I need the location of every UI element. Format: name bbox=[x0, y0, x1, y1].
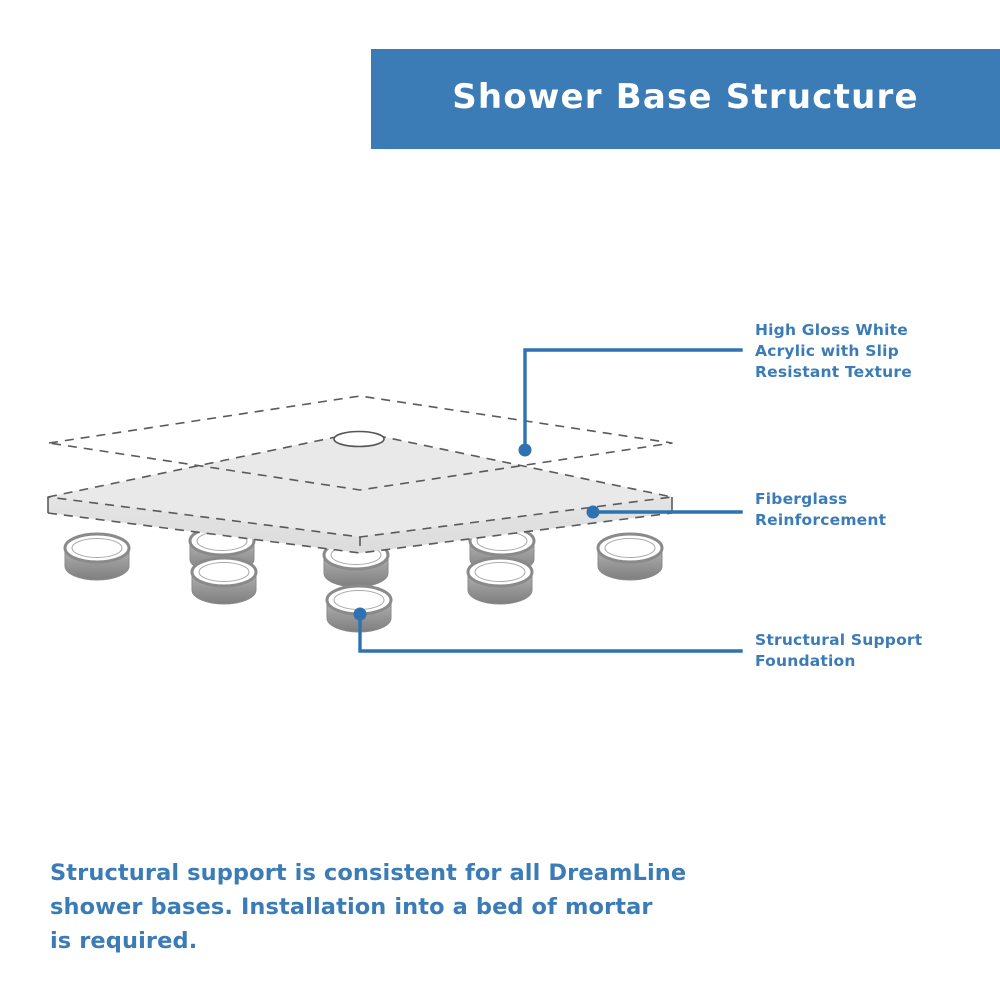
fiberglass-slab bbox=[48, 432, 672, 553]
callout-leader-support bbox=[354, 608, 742, 652]
support-ring bbox=[468, 558, 532, 604]
support-ring bbox=[470, 527, 534, 573]
title-banner: Shower Base Structure bbox=[371, 49, 1000, 149]
support-ring bbox=[192, 558, 256, 604]
acrylic-pan-outline bbox=[49, 396, 672, 490]
support-ring-group bbox=[65, 527, 662, 632]
support-ring bbox=[190, 527, 254, 573]
support-ring bbox=[598, 534, 662, 580]
callout-leader-acrylic bbox=[519, 350, 742, 457]
page-root: Shower Base Structure bbox=[0, 0, 1000, 1000]
callout-label-fiberglass: Fiberglass Reinforcement bbox=[755, 489, 886, 531]
drain-opening bbox=[334, 432, 384, 447]
support-ring bbox=[327, 586, 391, 632]
callout-label-acrylic: High Gloss White Acrylic with Slip Resis… bbox=[755, 320, 912, 383]
page-title: Shower Base Structure bbox=[371, 77, 1000, 117]
callout-leader-fiberglass bbox=[587, 506, 742, 519]
callout-label-support: Structural Support Foundation bbox=[755, 630, 922, 672]
support-ring bbox=[65, 534, 129, 580]
footer-caption: Structural support is consistent for all… bbox=[50, 856, 690, 958]
callout-leaders bbox=[354, 350, 742, 651]
support-ring bbox=[324, 541, 388, 587]
